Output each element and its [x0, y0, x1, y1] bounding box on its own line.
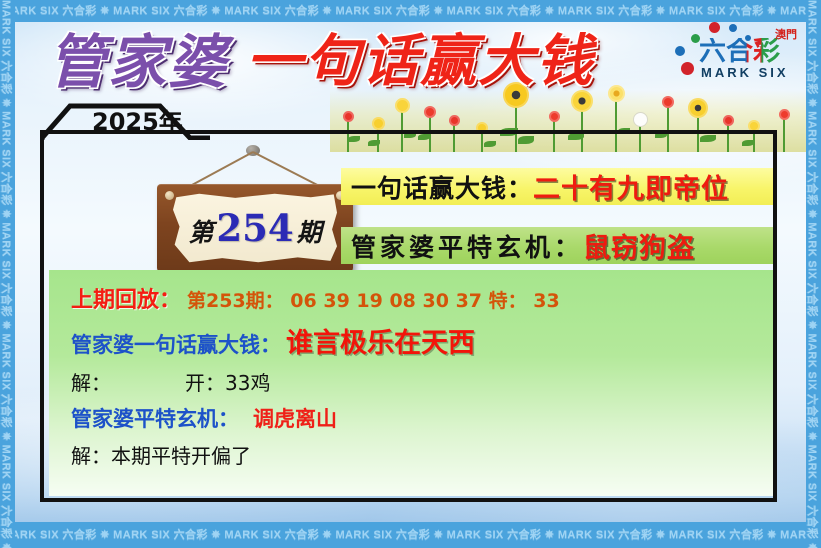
header-row-mystery-label: 管家婆平特玄机：: [351, 228, 583, 264]
paper-label: 第 254 期: [173, 193, 337, 263]
logo-english-name: MARK SIX: [701, 65, 789, 80]
mark-six-logo: 六合彩 MARK SIX 澳門: [673, 18, 799, 84]
slogan-label: 管家婆一句话赢大钱：: [71, 329, 281, 359]
logo-region-label: 澳門: [775, 26, 797, 42]
lottery-poster: 管家婆 一句话赢大钱 六合彩 MARK SIX 澳門 MARK SIX 六合彩 …: [0, 0, 821, 548]
header-row-slogan: 一句话赢大钱： 二十有九即帝位: [341, 168, 773, 205]
panel-line-answer-2: 解： 本期平特开偏了: [71, 440, 773, 469]
answer1-open-label: 开：: [185, 367, 225, 396]
border-pattern-text: MARK SIX 六合彩 ✵ MARK SIX 六合彩 ✵ MARK SIX 六…: [806, 0, 821, 548]
answer1-open-value: 33鸡: [225, 367, 270, 396]
border-pattern-text: MARK SIX 六合彩 ✵ MARK SIX 六合彩 ✵ MARK SIX 六…: [0, 0, 15, 548]
panel-line-slogan: 管家婆一句话赢大钱： 谁言极乐在天西: [71, 321, 773, 360]
header-row-mystery: 管家婆平特玄机： 鼠窃狗盗: [341, 227, 773, 264]
headline-slogan: 一句话赢大钱: [246, 34, 594, 90]
header-row-slogan-value: 二十有九即帝位: [533, 168, 729, 205]
border-left: MARK SIX 六合彩 ✵ MARK SIX 六合彩 ✵ MARK SIX 六…: [0, 0, 15, 548]
wood-board: 第 254 期: [157, 184, 353, 272]
replay-value: 第253期： 06 39 19 08 30 37 特： 33: [187, 286, 560, 313]
issue-suffix: 期: [297, 213, 322, 249]
panel-line-replay: 上期回放： 第253期： 06 39 19 08 30 37 特： 33: [71, 282, 773, 314]
border-right: MARK SIX 六合彩 ✵ MARK SIX 六合彩 ✵ MARK SIX 六…: [806, 0, 821, 548]
border-pattern-text: MARK SIX 六合彩 ✵ MARK SIX 六合彩 ✵ MARK SIX 六…: [0, 0, 821, 22]
border-bottom: MARK SIX 六合彩 ✵ MARK SIX 六合彩 ✵ MARK SIX 六…: [0, 522, 821, 548]
mystery-value: 调虎离山: [253, 403, 337, 433]
logo-chinese-name: 六合彩: [699, 38, 780, 65]
year-label: 2025年: [92, 102, 183, 137]
issue-value: 254: [216, 206, 293, 250]
headline-brand: 管家婆: [48, 33, 228, 91]
answer2-value: 本期平特开偏了: [111, 440, 251, 469]
border-pattern-text: MARK SIX 六合彩 ✵ MARK SIX 六合彩 ✵ MARK SIX 六…: [0, 522, 821, 548]
answer2-label: 解：: [71, 440, 111, 469]
header-row-mystery-value: 鼠窃狗盗: [583, 227, 695, 264]
replay-label: 上期回放：: [71, 282, 181, 314]
headline: 管家婆 一句话赢大钱: [48, 22, 688, 102]
content-panel: 上期回放： 第253期： 06 39 19 08 30 37 特： 33 管家婆…: [49, 270, 773, 496]
content-frame: 2025年 第 254 期 一句话赢大钱： 二十有九即帝位: [40, 130, 777, 502]
header-row-slogan-label: 一句话赢大钱：: [351, 169, 533, 205]
panel-line-answer-1: 解： 开： 33鸡: [71, 367, 773, 396]
panel-line-mystery: 管家婆平特玄机： 调虎离山: [71, 403, 773, 433]
border-top: MARK SIX 六合彩 ✵ MARK SIX 六合彩 ✵ MARK SIX 六…: [0, 0, 821, 22]
issue-prefix: 第: [188, 213, 213, 249]
hanging-issue-sign: 第 254 期: [139, 148, 369, 278]
issue-number: 第 254 期: [188, 206, 321, 250]
mystery-label: 管家婆平特玄机：: [71, 403, 239, 433]
answer1-label: 解：: [71, 367, 111, 396]
slogan-value: 谁言极乐在天西: [286, 321, 475, 360]
